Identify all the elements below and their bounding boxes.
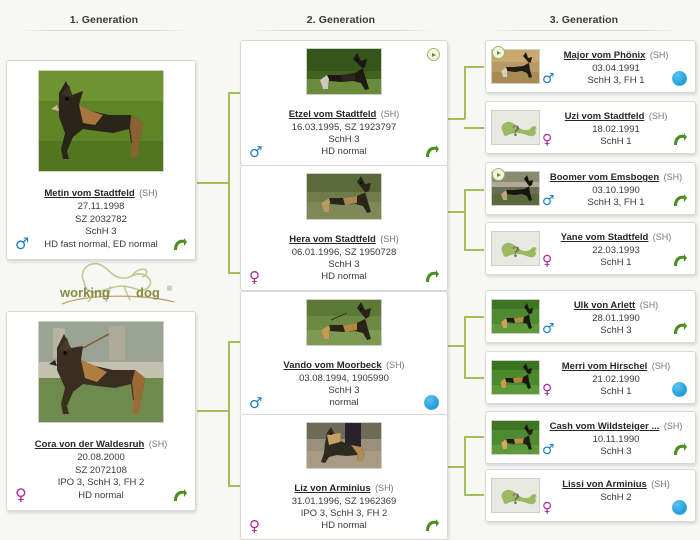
dog-health: HD normal xyxy=(247,520,441,532)
dog-info: Uzi vom Stadtfeld (SH) 18.02.1991 SchH 1 xyxy=(540,106,690,147)
dog-birthdate: 27.11.1998 xyxy=(13,201,189,214)
photo-wrapper xyxy=(13,70,189,177)
dog-name-suffix: (SH) xyxy=(664,421,683,431)
card-row: ? Lissi von Arminius (SH) SchH 2 xyxy=(491,474,690,517)
sex-female-icon: ♀ xyxy=(542,383,552,397)
expand-arrow-icon[interactable] xyxy=(671,131,688,148)
dog-card-gen3-cash[interactable]: Cash vom Wildsteiger ... (SH) 10.11.1990… xyxy=(485,411,696,464)
dog-birthdate: 20.08.2000 xyxy=(13,452,189,465)
sex-female-icon: ♀ xyxy=(15,487,27,503)
info-badge-icon[interactable] xyxy=(672,382,687,397)
dog-titles: SchH 3 xyxy=(542,325,690,337)
dog-titles: IPO 3, SchH 3, FH 2 xyxy=(13,477,189,490)
connector-h-to-uzi xyxy=(464,127,484,129)
connector-h-to-boomer xyxy=(464,189,484,191)
dog-titles: IPO 3, SchH 3, FH 2 xyxy=(247,508,441,520)
sex-female-icon: ♀ xyxy=(249,519,260,534)
dog-name-suffix: (SH) xyxy=(375,483,394,493)
card-row: Merri vom Hirschel (SH) 21.02.1990 SchH … xyxy=(491,356,690,399)
dog-info: Cash vom Wildsteiger ... (SH) 10.11.1990… xyxy=(540,416,690,457)
dog-name-line: Cora von der Waldesruh (SH) xyxy=(13,434,189,452)
photo-wrapper xyxy=(247,299,441,351)
dog-titles: SchH 3 xyxy=(247,385,441,397)
generation-header-bar: 1. Generation 2. Generation 3. Generatio… xyxy=(0,0,700,34)
dog-name-line: Liz von Arminius (SH) xyxy=(247,478,441,496)
dog-health: HD normal xyxy=(247,271,441,283)
photo-dog-cora[interactable] xyxy=(38,321,164,423)
generation-header-2: 2. Generation xyxy=(232,14,450,26)
dog-name-suffix: (SH) xyxy=(653,232,672,242)
dog-name-suffix: (SH) xyxy=(652,361,671,371)
dog-birth-registration: 03.08.1994, 1905990 xyxy=(247,373,441,385)
info-badge-icon[interactable] xyxy=(672,500,687,515)
sex-male-icon: ♂ xyxy=(15,236,29,252)
expand-arrow-icon[interactable] xyxy=(671,320,688,337)
dog-titles: SchH 3 xyxy=(542,446,690,458)
dog-name-suffix: (SH) xyxy=(650,50,669,60)
dog-name-link[interactable]: Etzel vom Stadtfeld xyxy=(289,109,377,120)
dog-titles: SchH 1 xyxy=(542,386,690,398)
dog-info: Lissi von Arminius (SH) SchH 2 xyxy=(540,474,690,504)
connector-h-metin-stub xyxy=(197,182,229,184)
dog-name-line: Ulk von Arlett (SH) xyxy=(542,295,690,313)
sex-male-icon: ♂ xyxy=(542,322,555,336)
generation-header-3: 3. Generation xyxy=(470,14,698,26)
photo-wrapper xyxy=(247,422,441,474)
expand-arrow-icon[interactable] xyxy=(423,143,440,160)
connector-v-metin-bracket xyxy=(228,92,230,274)
dog-name-suffix: (SH) xyxy=(139,188,158,198)
dog-card-gen3-yane[interactable]: ? Yane vom Stadtfeld (SH) 22.03.1993 Sch… xyxy=(485,222,696,275)
dog-card-gen3-major[interactable]: Major vom Phönix (SH) 03.04.1991 SchH 3,… xyxy=(485,40,696,93)
expand-arrow-icon[interactable] xyxy=(171,236,188,253)
dog-info: Merri vom Hirschel (SH) 21.02.1990 SchH … xyxy=(540,356,690,397)
dog-birthdate: 03.10.1990 xyxy=(542,185,690,197)
dog-card-gen3-ulk[interactable]: Ulk von Arlett (SH) 28.01.1990 SchH 3 ♂ xyxy=(485,290,696,343)
dog-card-gen3-lissi[interactable]: ? Lissi von Arminius (SH) SchH 2 ♀ xyxy=(485,469,696,522)
dog-name-link[interactable]: Merri vom Hirschel xyxy=(562,361,648,372)
dog-info: Vando vom Moorbeck (SH) 03.08.1994, 1905… xyxy=(247,355,441,409)
dog-titles: SchH 3 xyxy=(247,134,441,146)
dog-birth-registration: 16.03.1995, SZ 1923797 xyxy=(247,122,441,134)
video-play-icon[interactable] xyxy=(427,48,440,61)
connector-v-cora-bracket xyxy=(228,341,230,487)
dog-name-link[interactable]: Liz von Arminius xyxy=(294,483,370,494)
card-row: ? Yane vom Stadtfeld (SH) 22.03.1993 Sch… xyxy=(491,227,690,270)
dog-name-link[interactable]: Hera vom Stadtfeld xyxy=(289,234,376,245)
dog-name-line: Vando vom Moorbeck (SH) xyxy=(247,355,441,373)
dog-titles: SchH 2 xyxy=(542,492,690,504)
dog-titles: SchH 1 xyxy=(542,257,690,269)
connector-v-liz-bracket xyxy=(464,436,466,496)
dog-name-line: Lissi von Arminius (SH) xyxy=(542,474,690,492)
sex-male-icon: ♂ xyxy=(542,72,555,86)
sex-female-icon: ♀ xyxy=(542,501,552,515)
dog-name-line: Major vom Phönix (SH) xyxy=(542,45,690,63)
dog-titles: SchH 3 xyxy=(247,259,441,271)
dog-card-gen2-etzel[interactable]: Etzel vom Stadtfeld (SH) 16.03.1995, SZ … xyxy=(240,40,448,166)
dog-name-line: Yane vom Stadtfeld (SH) xyxy=(542,227,690,245)
dog-name-line: Cash vom Wildsteiger ... (SH) xyxy=(542,416,690,434)
expand-arrow-icon[interactable] xyxy=(671,441,688,458)
dog-name-link[interactable]: Cash vom Wildsteiger ... xyxy=(550,421,660,432)
photo-wrapper xyxy=(247,173,441,225)
dog-name-suffix: (SH) xyxy=(149,439,168,449)
connector-h-cora-stub xyxy=(197,410,229,412)
dog-titles: SchH 3 xyxy=(13,226,189,239)
expand-arrow-icon[interactable] xyxy=(171,487,188,504)
dog-birthdate: 21.02.1990 xyxy=(542,374,690,386)
dog-card-gen1-metin[interactable]: Metin vom Stadtfeld (SH) 27.11.1998 SZ 2… xyxy=(6,60,196,260)
expand-arrow-icon[interactable] xyxy=(671,192,688,209)
dog-titles: SchH 3, FH 1 xyxy=(542,75,690,87)
photo-dog-etzel[interactable] xyxy=(306,48,382,95)
dog-name-suffix: (SH) xyxy=(380,234,399,244)
sex-female-icon: ♀ xyxy=(542,254,552,268)
dog-info: Cora von der Waldesruh (SH) 20.08.2000 S… xyxy=(13,434,189,502)
sex-male-icon: ♂ xyxy=(542,443,555,457)
dog-card-gen3-boomer[interactable]: Boomer vom Emsbogen (SH) 03.10.1990 SchH… xyxy=(485,162,696,215)
dog-titles: SchH 3, FH 1 xyxy=(542,197,690,209)
dog-info: Etzel vom Stadtfeld (SH) 16.03.1995, SZ … xyxy=(247,104,441,158)
dog-birthdate: 18.02.1991 xyxy=(542,124,690,136)
dog-info: Major vom Phönix (SH) 03.04.1991 SchH 3,… xyxy=(540,45,690,86)
connector-h-to-cash xyxy=(464,436,484,438)
dog-name-suffix: (SH) xyxy=(651,479,670,489)
photo-dog-ulk[interactable] xyxy=(491,299,540,334)
dog-name-line: Uzi vom Stadtfeld (SH) xyxy=(542,106,690,124)
connector-v-hera-bracket xyxy=(464,189,466,250)
sex-female-icon: ♀ xyxy=(249,270,260,285)
card-row: Major vom Phönix (SH) 03.04.1991 SchH 3,… xyxy=(491,45,690,88)
expand-arrow-icon[interactable] xyxy=(423,268,440,285)
dog-birthdate: 10.11.1990 xyxy=(542,434,690,446)
dog-name-suffix: (SH) xyxy=(649,111,668,121)
generation-header-1: 1. Generation xyxy=(4,14,204,26)
dog-name-link[interactable]: Metin vom Stadtfeld xyxy=(44,188,134,199)
photo-dog-merri[interactable] xyxy=(491,360,540,395)
card-row: Ulk von Arlett (SH) 28.01.1990 SchH 3 xyxy=(491,295,690,338)
photo-wrapper xyxy=(13,321,189,428)
dog-info: Boomer vom Emsbogen (SH) 03.10.1990 SchH… xyxy=(540,167,690,208)
info-badge-icon[interactable] xyxy=(424,395,439,410)
sex-female-icon: ♀ xyxy=(542,133,552,147)
dog-registration: SZ 2032782 xyxy=(13,214,189,227)
photo-dog-liz[interactable] xyxy=(306,422,382,469)
dog-titles: SchH 1 xyxy=(542,136,690,148)
video-play-icon[interactable] xyxy=(492,168,505,181)
dog-card-gen3-uzi[interactable]: ? Uzi vom Stadtfeld (SH) 18.02.1991 SchH… xyxy=(485,101,696,154)
info-badge-icon[interactable] xyxy=(672,71,687,86)
dog-info: Ulk von Arlett (SH) 28.01.1990 SchH 3 xyxy=(540,295,690,336)
sex-male-icon: ♂ xyxy=(249,145,262,160)
connector-h-to-ulk xyxy=(464,316,484,318)
dog-info: Hera vom Stadtfeld (SH) 06.01.1996, SZ 1… xyxy=(247,229,441,283)
connector-h-to-yane xyxy=(464,249,484,251)
photo-dog-hera[interactable] xyxy=(306,173,382,220)
photo-wrapper xyxy=(247,48,441,100)
connector-v-vando-bracket xyxy=(464,316,466,378)
dog-info: Metin vom Stadtfeld (SH) 27.11.1998 SZ 2… xyxy=(13,183,189,251)
dog-name-link[interactable]: Vando vom Moorbeck xyxy=(283,360,381,371)
photo-placeholder-unknown[interactable]: ? xyxy=(491,110,540,145)
svg-text:?: ? xyxy=(512,244,520,261)
card-row: ? Uzi vom Stadtfeld (SH) 18.02.1991 SchH… xyxy=(491,106,690,149)
card-row: Cash vom Wildsteiger ... (SH) 10.11.1990… xyxy=(491,416,690,459)
dog-name-suffix: (SH) xyxy=(381,109,400,119)
dog-name-suffix: (SH) xyxy=(640,300,659,310)
expand-arrow-icon[interactable] xyxy=(423,517,440,534)
svg-text:?: ? xyxy=(512,491,520,508)
dog-name-link[interactable]: Ulk von Arlett xyxy=(574,300,635,311)
dog-name-line: Boomer vom Emsbogen (SH) xyxy=(542,167,690,185)
dog-card-gen2-vando[interactable]: Vando vom Moorbeck (SH) 03.08.1994, 1905… xyxy=(240,291,448,417)
card-row: Boomer vom Emsbogen (SH) 03.10.1990 SchH… xyxy=(491,167,690,210)
connector-h-to-major xyxy=(464,66,484,68)
dog-name-link[interactable]: Cora von der Waldesruh xyxy=(35,439,144,450)
connector-h-to-merri xyxy=(464,377,484,379)
expand-arrow-icon[interactable] xyxy=(671,252,688,269)
dog-birth-registration: 06.01.1996, SZ 1950728 xyxy=(247,247,441,259)
dog-name-link[interactable]: Major vom Phönix xyxy=(564,50,646,61)
dog-birth-registration: 31.01.1996, SZ 1962369 xyxy=(247,496,441,508)
sex-male-icon: ♂ xyxy=(249,396,262,411)
connector-h-to-lissi xyxy=(464,494,484,496)
photo-dog-metin[interactable] xyxy=(38,70,164,172)
dog-health: normal xyxy=(247,397,441,409)
photo-placeholder-unknown[interactable]: ? xyxy=(491,231,540,266)
dog-name-suffix: (SH) xyxy=(664,172,683,182)
dog-birthdate: 22.03.1993 xyxy=(542,245,690,257)
dog-name-suffix: (SH) xyxy=(386,360,405,370)
dog-name-line: Etzel vom Stadtfeld (SH) xyxy=(247,104,441,122)
dog-name-line: Hera vom Stadtfeld (SH) xyxy=(247,229,441,247)
dog-birthdate: 28.01.1990 xyxy=(542,313,690,325)
connector-v-etzel-bracket xyxy=(464,66,466,119)
dog-card-gen1-cora[interactable]: Cora von der Waldesruh (SH) 20.08.2000 S… xyxy=(6,311,196,511)
dog-info: Liz von Arminius (SH) 31.01.1996, SZ 196… xyxy=(247,478,441,532)
dog-health: HD fast normal, ED normal xyxy=(13,239,189,252)
photo-placeholder-unknown[interactable]: ? xyxy=(491,478,540,513)
sex-male-icon: ♂ xyxy=(542,194,555,208)
dog-health: HD normal xyxy=(247,146,441,158)
svg-text:?: ? xyxy=(512,123,520,140)
dog-registration: SZ 2072108 xyxy=(13,465,189,478)
photo-dog-vando[interactable] xyxy=(306,299,382,346)
dog-name-link[interactable]: Yane vom Stadtfeld xyxy=(561,232,649,243)
dog-name-link[interactable]: Lissi von Arminius xyxy=(562,479,647,490)
dog-name-line: Merri vom Hirschel (SH) xyxy=(542,356,690,374)
dog-name-link[interactable]: Uzi vom Stadtfeld xyxy=(565,111,645,122)
dog-card-gen3-merri[interactable]: Merri vom Hirschel (SH) 21.02.1990 SchH … xyxy=(485,351,696,404)
dog-card-gen2-hera[interactable]: Hera vom Stadtfeld (SH) 06.01.1996, SZ 1… xyxy=(240,165,448,291)
dog-birthdate: 03.04.1991 xyxy=(542,63,690,75)
photo-dog-cash[interactable] xyxy=(491,420,540,455)
dog-name-line: Metin vom Stadtfeld (SH) xyxy=(13,183,189,201)
dog-card-gen2-liz[interactable]: Liz von Arminius (SH) 31.01.1996, SZ 196… xyxy=(240,414,448,540)
dog-name-link[interactable]: Boomer vom Emsbogen xyxy=(550,172,659,183)
video-play-icon[interactable] xyxy=(492,46,505,59)
dog-health: HD normal xyxy=(13,490,189,503)
dog-info: Yane vom Stadtfeld (SH) 22.03.1993 SchH … xyxy=(540,227,690,268)
